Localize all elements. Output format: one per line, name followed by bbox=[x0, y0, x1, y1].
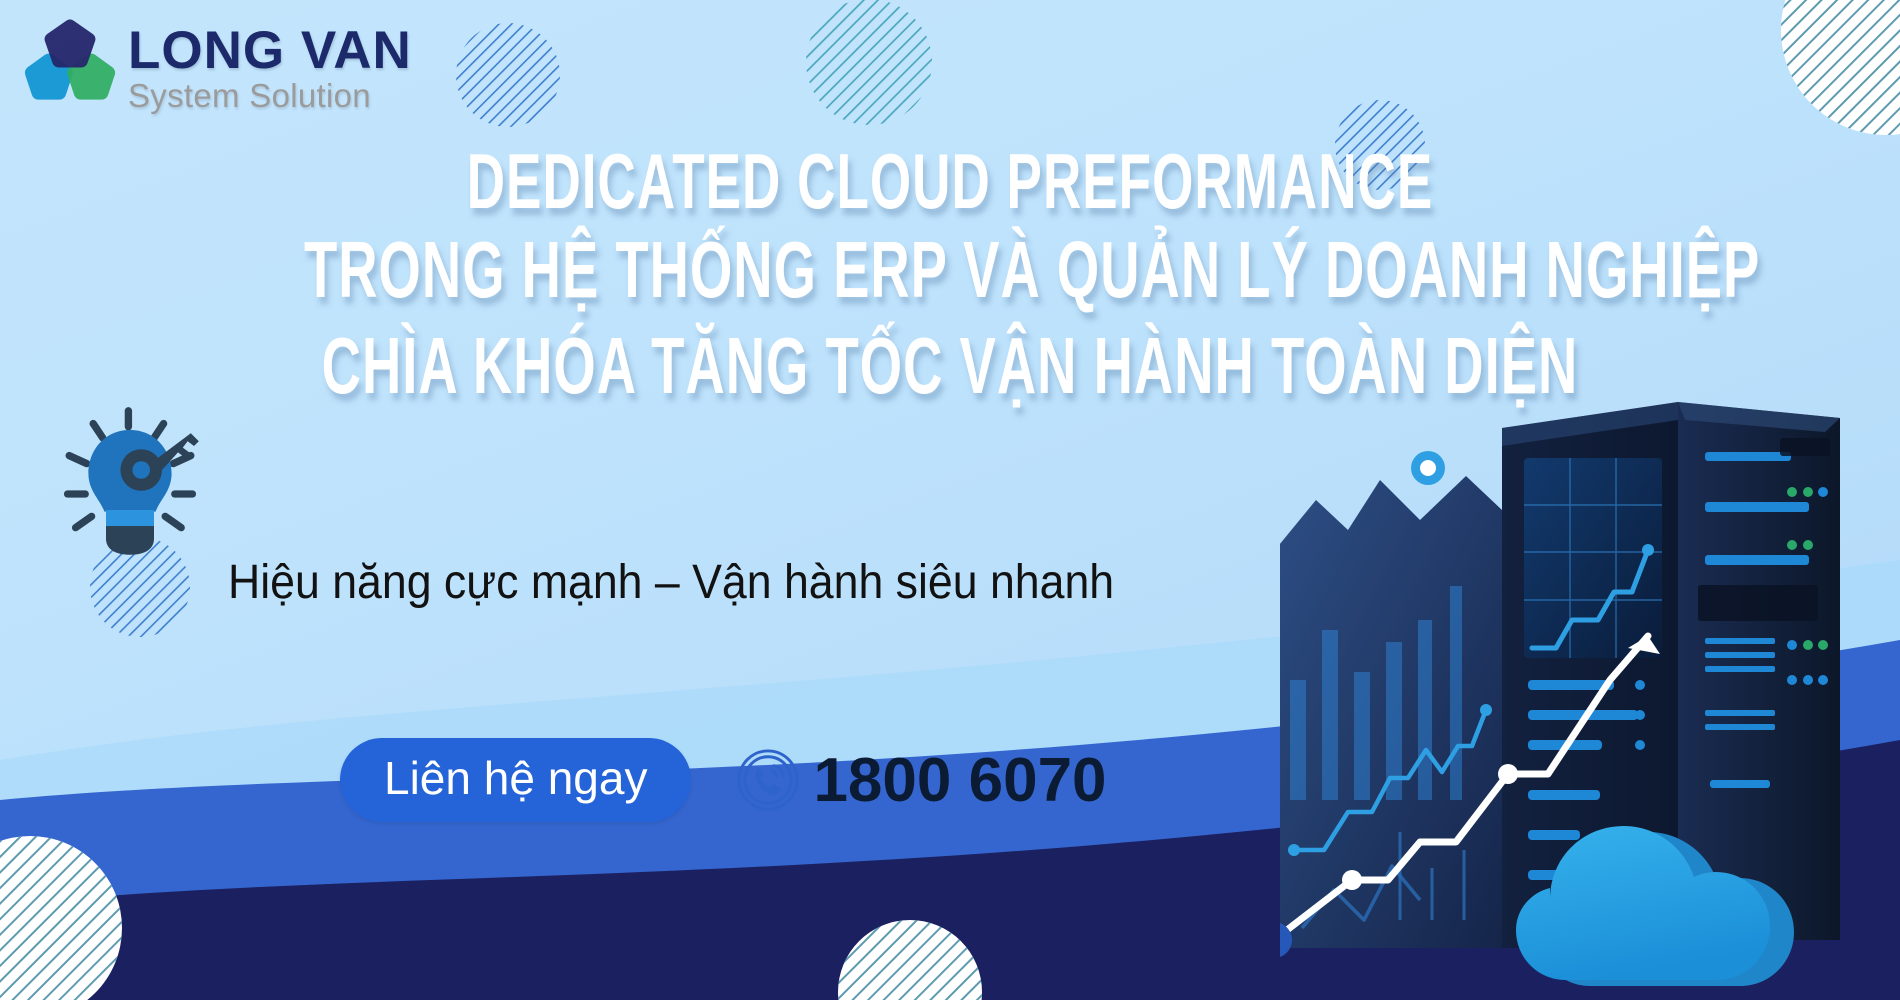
phone-block[interactable]: 1800 6070 bbox=[737, 745, 1106, 816]
hatched-circle-top-center bbox=[806, 0, 932, 125]
subtitle-text: Hiệu năng cực mạnh – Vận hành siêu nhanh bbox=[228, 555, 1114, 610]
hatched-circle-top-right-large bbox=[1781, 0, 1900, 135]
server-racks-illustration bbox=[1280, 380, 1900, 1000]
contact-now-button[interactable]: Liên hệ ngay bbox=[340, 738, 691, 822]
hatched-circle-top-left bbox=[456, 23, 560, 127]
phone-ringing-circle-icon bbox=[737, 749, 799, 811]
phone-number: 1800 6070 bbox=[813, 745, 1106, 816]
brand-logo[interactable]: LONG VAN System Solution bbox=[22, 18, 412, 114]
cta-row: Liên hệ ngay 1800 6070 bbox=[340, 738, 1107, 822]
promo-banner: LONG VAN System Solution DEDICATED CLOUD… bbox=[0, 0, 1900, 1000]
brand-name: LONG VAN bbox=[128, 24, 412, 77]
brand-tagline: System Solution bbox=[128, 79, 412, 112]
three-overlapping-pentagons-logo-icon bbox=[22, 18, 118, 114]
lightbulb-with-key-icon bbox=[50, 398, 210, 558]
hatched-circle-top-right-small bbox=[1335, 100, 1425, 190]
